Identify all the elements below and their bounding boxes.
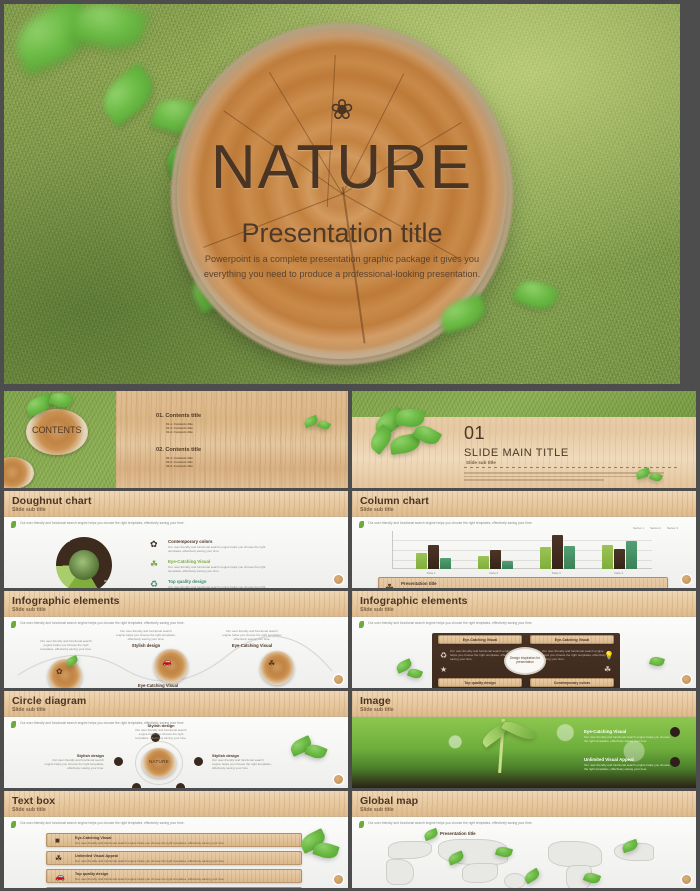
- slide-thumb-infographic-circles[interactable]: Infographic elements Slide sub title Our…: [4, 591, 348, 688]
- contents-sub: 02-3. Contents title: [166, 464, 201, 468]
- image-feature: Unlimited Visual Appeal Our user-friendl…: [584, 757, 670, 771]
- section-subtitle: Slide sub title: [466, 460, 496, 465]
- stump-icon-circle[interactable]: [48, 659, 82, 688]
- caption-body: Our user-friendly and functional search …: [44, 758, 104, 771]
- slide-subtitle: Slide sub title: [360, 807, 394, 813]
- slide-subtitle: Slide sub title: [12, 607, 46, 613]
- leaf-bullet-icon: [11, 621, 16, 628]
- quad-label: Contemporary colors: [554, 681, 590, 685]
- column-chart-plot: [392, 531, 652, 569]
- slide-thumb-section[interactable]: 01 SLIDE MAIN TITLE Slide sub title: [352, 391, 696, 488]
- car-icon: 🚗: [162, 657, 172, 666]
- slide-thumbnail-grid: CONTENTS 01. Contents title 01-1. Conten…: [4, 391, 696, 891]
- map-region: [386, 859, 414, 885]
- quad-label: Top quality design: [464, 681, 495, 685]
- slide-thumb-circle-diagram[interactable]: Circle diagram Slide sub title Our user-…: [4, 691, 348, 788]
- slide-thumb-doughnut-chart[interactable]: Doughnut chart Slide sub title Our user-…: [4, 491, 348, 588]
- caption-title: Stylish design: [206, 787, 264, 788]
- leaf-bullet-icon: [11, 521, 16, 528]
- contents-number: 01. Contents title: [156, 413, 201, 419]
- slide-title: Infographic elements: [360, 595, 468, 607]
- quad-label: Eye-Catching Visual: [463, 638, 498, 642]
- feature-item[interactable]: ♻ Top quality design Our user-friendly a…: [168, 579, 272, 588]
- thumbnail-row: Doughnut chart Slide sub title Our user-…: [4, 491, 696, 588]
- slide-subtitle: Slide sub title: [360, 507, 394, 513]
- slide-title: Text box: [12, 795, 55, 807]
- center-hub: Design Inspiration for presentation: [504, 647, 546, 675]
- slide-header: Image Slide sub title: [352, 691, 696, 717]
- slide-lead-text: Our user-friendly and functional search …: [20, 521, 340, 526]
- thumbnail-row: CONTENTS 01. Contents title 01-1. Conten…: [4, 391, 696, 488]
- slide-title: Column chart: [360, 495, 429, 507]
- diagram-caption: Stylish design Our user-friendly and fun…: [52, 787, 110, 788]
- slide-header: Infographic elements Slide sub title: [4, 591, 348, 617]
- donut-label: 00%: [64, 539, 70, 543]
- corner-stump-icon: [334, 575, 343, 584]
- slide-thumb-text-box[interactable]: Text box Slide sub title Our user-friend…: [4, 791, 348, 888]
- image-area: Eye-Catching Visual Our user-friendly an…: [352, 717, 696, 788]
- slide-lead-text: Our user-friendly and functional search …: [368, 621, 688, 626]
- slide-lead-text: Our user-friendly and functional search …: [20, 621, 340, 626]
- slide-title: Infographic elements: [12, 595, 120, 607]
- leaf-bullet-icon: [11, 721, 16, 728]
- badge-icon: [670, 757, 680, 767]
- feature-caption: Our user-friendly and functional search …: [222, 629, 282, 648]
- stump-icon-circle[interactable]: [260, 651, 294, 685]
- map-pin-leaf[interactable]: [523, 868, 542, 885]
- text-box-row[interactable]: Unlimited Visual Appeal Our user-friendl…: [46, 851, 302, 865]
- node-icon[interactable]: [132, 783, 141, 788]
- feature-body: Our user-friendly and functional search …: [584, 763, 670, 771]
- leaf-bullet-icon: [359, 521, 364, 528]
- hero-subtitle: Presentation title: [241, 218, 442, 249]
- badge-icon: [670, 727, 680, 737]
- row-title: Unlimited Visual Appeal: [75, 854, 118, 858]
- hero-title: NATURE: [211, 132, 473, 203]
- quad-label-card[interactable]: Eye-Catching Visual: [438, 635, 522, 644]
- stump-icon-circle[interactable]: [154, 649, 188, 683]
- map-region: [462, 863, 498, 883]
- diagram-caption: Stylish design Our user-friendly and fun…: [44, 753, 104, 771]
- wood-panel: [116, 391, 348, 488]
- quad-label-card[interactable]: Contemporary colors: [530, 678, 614, 687]
- feature-item[interactable]: ✿ Contemporary colors Our user-friendly …: [168, 539, 272, 553]
- diagram-caption: Stylish design Our user-friendly and fun…: [132, 723, 190, 741]
- nature-crest-icon: ❀: [330, 96, 353, 124]
- image-feature: Eye-Catching Visual Our user-friendly an…: [584, 729, 670, 743]
- bulb-icon: 💡: [604, 651, 614, 660]
- node-icon[interactable]: [114, 757, 123, 766]
- leaf-decoration: [407, 667, 423, 680]
- leaf-crest-icon: ✿: [150, 539, 158, 550]
- hero-slide[interactable]: ❀ NATURE Presentation title Powerpoint i…: [4, 4, 680, 384]
- slide-thumb-global-map[interactable]: Global map Slide sub title Our user-frie…: [352, 791, 696, 888]
- feature-item[interactable]: ☘ Eye-Catching Visual Our user-friendly …: [168, 559, 272, 573]
- leaf-icon: ☘: [604, 665, 611, 674]
- plant-icon: ☘: [268, 659, 275, 668]
- slide-header: Infographic elements Slide sub title: [352, 591, 696, 617]
- slide-header: Text box Slide sub title: [4, 791, 348, 817]
- leaf-decoration: [423, 828, 439, 841]
- feature-body: Our user-friendly and functional search …: [168, 545, 272, 553]
- leaf-bullet-icon: [11, 821, 16, 828]
- section-body: [464, 472, 664, 481]
- contents-item-2[interactable]: 02. Contents title 02-1. Contents title …: [156, 447, 201, 469]
- slide-header: Global map Slide sub title: [352, 791, 696, 817]
- slide-lead-text: Our user-friendly and functional search …: [20, 821, 340, 826]
- quad-label: Eye-Catching Visual: [555, 638, 590, 642]
- slide-subtitle: Slide sub title: [12, 507, 46, 513]
- thumbnail-row: Infographic elements Slide sub title Our…: [4, 591, 696, 688]
- slide-body: Our user-friendly and functional search …: [4, 517, 348, 588]
- corner-stump-icon: [682, 675, 691, 684]
- map-title: Presentation title: [440, 831, 476, 836]
- car-icon: 🚗: [55, 872, 65, 881]
- slide-header: Column chart Slide sub title: [352, 491, 696, 517]
- leaf-decoration: [649, 655, 665, 668]
- corner-stump-icon: [682, 575, 691, 584]
- column-chart-x-labels: Data 1 Data 2 Data 3 Data 4: [400, 571, 650, 575]
- slide-header: Circle diagram Slide sub title: [4, 691, 348, 717]
- caption-body: Our user-friendly and functional search …: [132, 728, 190, 741]
- section-number: 01: [464, 423, 485, 444]
- slide-subtitle: Slide sub title: [360, 707, 394, 713]
- caption-body: Our user-friendly and functional search …: [212, 758, 272, 771]
- leaf-decoration: [304, 742, 327, 762]
- map-region: [388, 841, 432, 859]
- slide-title: Global map: [360, 795, 418, 807]
- diagram-caption: Stylish design Our user-friendly and fun…: [212, 753, 272, 771]
- slide-body: Our user-friendly and functional search …: [4, 717, 348, 788]
- feature-title: Eye-Catching Visual: [222, 643, 282, 648]
- row-title: Eye-Catching Visual: [75, 836, 111, 840]
- nature-badge-label: NATURE: [144, 759, 174, 764]
- feature-title: Eye-Catching Visual: [584, 729, 670, 734]
- corner-stump-icon: [682, 875, 691, 884]
- slide-title: Image: [360, 695, 391, 707]
- map-region: [548, 841, 602, 867]
- recycle-icon: ♻: [150, 579, 158, 588]
- leaf-bullet-icon: [359, 621, 364, 628]
- row-body: Our user-friendly and functional search …: [75, 841, 275, 845]
- thumbnail-row: Text box Slide sub title Our user-friend…: [4, 791, 696, 888]
- slide-thumb-image[interactable]: Image Slide sub title Eye-Catching Visua…: [352, 691, 696, 788]
- slide-subtitle: Slide sub title: [360, 607, 394, 613]
- slide-lead-text: Our user-friendly and functional search …: [368, 821, 688, 826]
- node-icon[interactable]: [194, 757, 203, 766]
- slide-header: Doughnut chart Slide sub title: [4, 491, 348, 517]
- leaf-bullet-icon: [359, 821, 364, 828]
- feature-body: Our user-friendly and functional search …: [168, 585, 272, 588]
- slide-thumb-column-chart[interactable]: Column chart Slide sub title Our user-fr…: [352, 491, 696, 588]
- row-body: Our user-friendly and functional search …: [75, 859, 275, 863]
- slide-title: Circle diagram: [12, 695, 86, 707]
- chart-legend: Series 1 Series 2 Series 3: [633, 526, 678, 530]
- slide-subtitle: Slide sub title: [12, 707, 46, 713]
- text-box-row[interactable]: Top quality design Our user-friendly and…: [46, 869, 302, 883]
- slide-body: Our user-friendly and functional search …: [4, 817, 348, 888]
- feature-title: Stylish design: [116, 643, 176, 648]
- contents-badge-label: CONTENTS: [32, 425, 82, 435]
- contents-item-1[interactable]: 01. Contents title 01-1. Contents title …: [156, 413, 201, 435]
- hub-label: Design Inspiration for presentation: [506, 657, 544, 665]
- chart-legend: Series 1: [112, 583, 123, 588]
- quad-label-card[interactable]: Eye-Catching Visual: [530, 635, 614, 644]
- slide-thumb-infographic-quad[interactable]: Infographic elements Slide sub title Our…: [352, 591, 696, 688]
- feature-body: Our user-friendly and functional search …: [168, 565, 272, 573]
- note-card[interactable]: Presentation title Our user-friendly and…: [378, 577, 668, 588]
- feature-caption: Eye-Catching Visual Our user-friendly an…: [126, 683, 190, 688]
- feature-caption: Our user-friendly and functional search …: [38, 639, 94, 652]
- feature-caption: Our user-friendly and functional search …: [116, 629, 176, 648]
- contents-number: 02. Contents title: [156, 447, 201, 453]
- quad-label-card[interactable]: Top quality design: [438, 678, 522, 687]
- slide-subtitle: Slide sub title: [12, 807, 46, 813]
- note-title: Presentation title: [401, 581, 437, 586]
- tree-icon: ☘: [150, 559, 158, 570]
- map-region: [504, 873, 526, 888]
- corner-stump-icon: [334, 875, 343, 884]
- row-body: Our user-friendly and functional search …: [75, 877, 275, 881]
- text-box-row[interactable]: Eye-Catching Visual Our user-friendly an…: [46, 833, 302, 847]
- corner-stump-icon: [334, 775, 343, 784]
- caption-title: Stylish design: [52, 787, 110, 788]
- slide-body: Our user-friendly and functional search …: [4, 617, 348, 688]
- briefcase-icon: ■: [55, 836, 60, 845]
- template-preview-page: ❀ NATURE Presentation title Powerpoint i…: [0, 0, 700, 891]
- section-title: SLIDE MAIN TITLE: [464, 447, 569, 459]
- row-title: Top quality design: [75, 872, 108, 876]
- slide-body: Our user-friendly and functional search …: [352, 817, 696, 888]
- quad-body: Our user-friendly and functional search …: [542, 649, 606, 662]
- feature-body: Our user-friendly and functional search …: [584, 735, 670, 743]
- thumbnail-row: Circle diagram Slide sub title Our user-…: [4, 691, 696, 788]
- contents-sub: 01-3. Contents title: [166, 430, 201, 434]
- feature-title: Unlimited Visual Appeal: [584, 757, 670, 762]
- diagram-caption: Stylish design Our user-friendly and fun…: [206, 787, 264, 788]
- feature-title: Contemporary colors: [168, 539, 272, 544]
- node-icon[interactable]: [176, 783, 185, 788]
- tree-icon: ☘: [55, 854, 62, 863]
- feature-title: Eye-Catching Visual: [168, 559, 272, 564]
- hero-body-text: Powerpoint is a complete presentation gr…: [192, 252, 492, 282]
- basket-icon: ★: [440, 665, 447, 674]
- slide-thumb-contents[interactable]: CONTENTS 01. Contents title 01-1. Conten…: [4, 391, 348, 488]
- feature-title: Top quality design: [168, 579, 272, 584]
- donut-label: 00%: [104, 579, 110, 583]
- slide-body: Our user-friendly and functional search …: [352, 617, 696, 688]
- slide-title: Doughnut chart: [12, 495, 92, 507]
- text-box-row[interactable]: Stylish design Our user-friendly and fun…: [46, 887, 302, 888]
- tree-icon: ☘: [385, 583, 394, 588]
- corner-stump-icon: [334, 675, 343, 684]
- slide-body: Our user-friendly and functional search …: [352, 517, 696, 588]
- leaf-crest-icon: ✿: [56, 667, 63, 676]
- recycle-icon: ♻: [440, 651, 447, 660]
